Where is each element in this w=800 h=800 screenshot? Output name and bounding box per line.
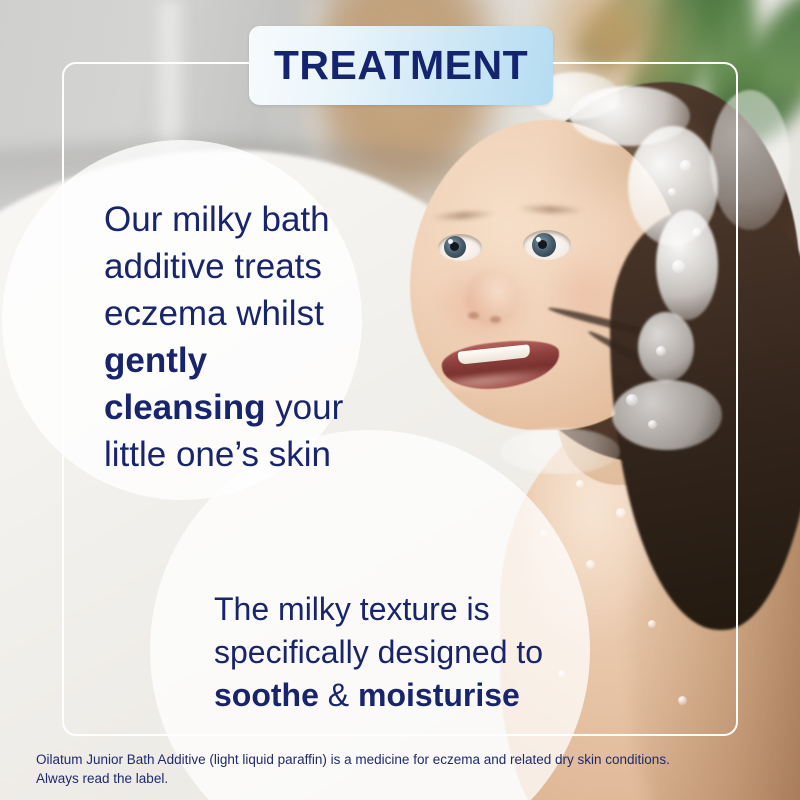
disclaimer-line-2: Always read the label. bbox=[36, 769, 776, 788]
primary-headline: Our milky bath additive treats eczema wh… bbox=[104, 196, 374, 478]
soap-bubble bbox=[586, 560, 595, 569]
soap-foam bbox=[500, 428, 620, 474]
soap-bubble bbox=[678, 696, 687, 705]
soap-foam bbox=[612, 380, 722, 450]
soap-bubble bbox=[616, 508, 626, 518]
soap-bubble bbox=[668, 188, 676, 196]
secondary-headline-emphasis-1: soothe bbox=[214, 677, 319, 713]
soap-bubble bbox=[626, 394, 638, 406]
soap-bubble bbox=[672, 260, 685, 273]
soap-foam bbox=[656, 210, 718, 320]
soap-bubble bbox=[648, 420, 657, 429]
soap-bubble bbox=[656, 346, 666, 356]
primary-headline-pre: Our milky bath additive treats eczema wh… bbox=[104, 200, 330, 333]
treatment-badge-label: TREATMENT bbox=[274, 45, 528, 86]
soap-bubble bbox=[648, 620, 656, 628]
secondary-headline-emphasis-2: moisturise bbox=[358, 677, 520, 713]
soap-bubble bbox=[576, 480, 584, 488]
child-eye-glint bbox=[448, 239, 453, 244]
child-eye-glint bbox=[536, 237, 541, 242]
advertisement-canvas: TREATMENT Our milky bath additive treats… bbox=[0, 0, 800, 800]
primary-headline-emphasis: gently cleansing bbox=[104, 341, 265, 427]
soap-bubble bbox=[692, 228, 701, 237]
secondary-headline-pre: The milky texture is specifically design… bbox=[214, 591, 543, 670]
treatment-badge: TREATMENT bbox=[249, 26, 553, 105]
soap-foam bbox=[638, 312, 694, 382]
child-nostril bbox=[490, 316, 501, 323]
secondary-headline: The milky texture is specifically design… bbox=[214, 588, 574, 717]
disclaimer-line-1: Oilatum Junior Bath Additive (light liqu… bbox=[36, 750, 776, 769]
legal-disclaimer: Oilatum Junior Bath Additive (light liqu… bbox=[36, 750, 776, 788]
child-nostril bbox=[468, 312, 479, 319]
soap-bubble bbox=[680, 160, 691, 171]
secondary-headline-conjunction: & bbox=[319, 677, 358, 713]
soap-foam bbox=[710, 90, 790, 230]
